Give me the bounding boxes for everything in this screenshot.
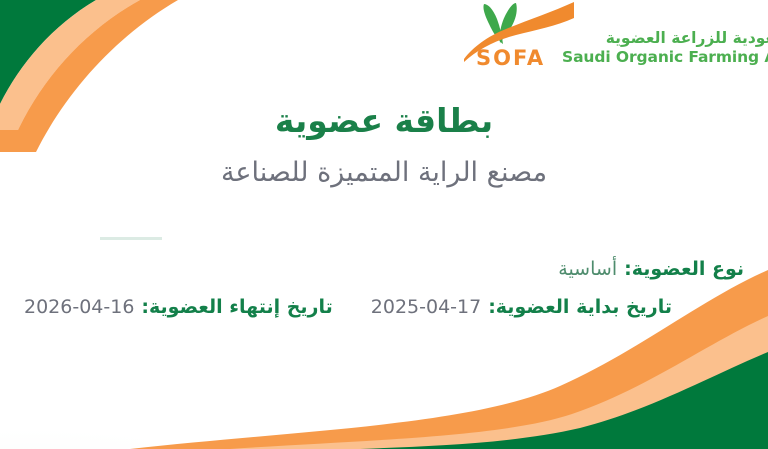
divider <box>100 237 162 240</box>
membership-type-value: أساسية <box>558 258 617 280</box>
membership-details: نوع العضوية: أساسية تاريخ بداية العضوية:… <box>0 258 768 318</box>
bottom-band-light-orange <box>230 316 768 449</box>
start-date-item: تاريخ بداية العضوية: 2025-04-17 <box>371 296 672 318</box>
watermark-blob <box>0 327 455 449</box>
detail-row-membership-type: نوع العضوية: أساسية <box>0 258 768 280</box>
membership-type-label: نوع العضوية: <box>624 258 744 280</box>
membership-type-item: نوع العضوية: أساسية <box>558 258 744 280</box>
corner-band-green <box>0 0 96 104</box>
membership-card: SOFA الجمعية السعودية للزراعة العضوية Sa… <box>0 0 768 449</box>
sofa-logo: SOFA الجمعية السعودية للزراعة العضوية Sa… <box>458 2 750 80</box>
start-date-label: تاريخ بداية العضوية: <box>488 296 672 318</box>
logo-name-english: Saudi Organic Farming Association <box>562 48 768 67</box>
member-name: مصنع الراية المتميزة للصناعة <box>0 155 768 190</box>
page-title: بطاقة عضوية <box>0 100 768 141</box>
detail-row-dates: تاريخ بداية العضوية: 2025-04-17 تاريخ إن… <box>0 296 768 318</box>
end-date-label: تاريخ إنتهاء العضوية: <box>141 296 332 318</box>
start-date-value: 2025-04-17 <box>371 296 481 318</box>
logo-name-arabic: الجمعية السعودية للزراعة العضوية <box>562 30 768 48</box>
end-date-value: 2026-04-16 <box>24 296 134 318</box>
end-date-item: تاريخ إنتهاء العضوية: 2026-04-16 <box>24 296 333 318</box>
logo-wordmark: SOFA <box>476 48 545 69</box>
bottom-band-green <box>360 352 768 449</box>
